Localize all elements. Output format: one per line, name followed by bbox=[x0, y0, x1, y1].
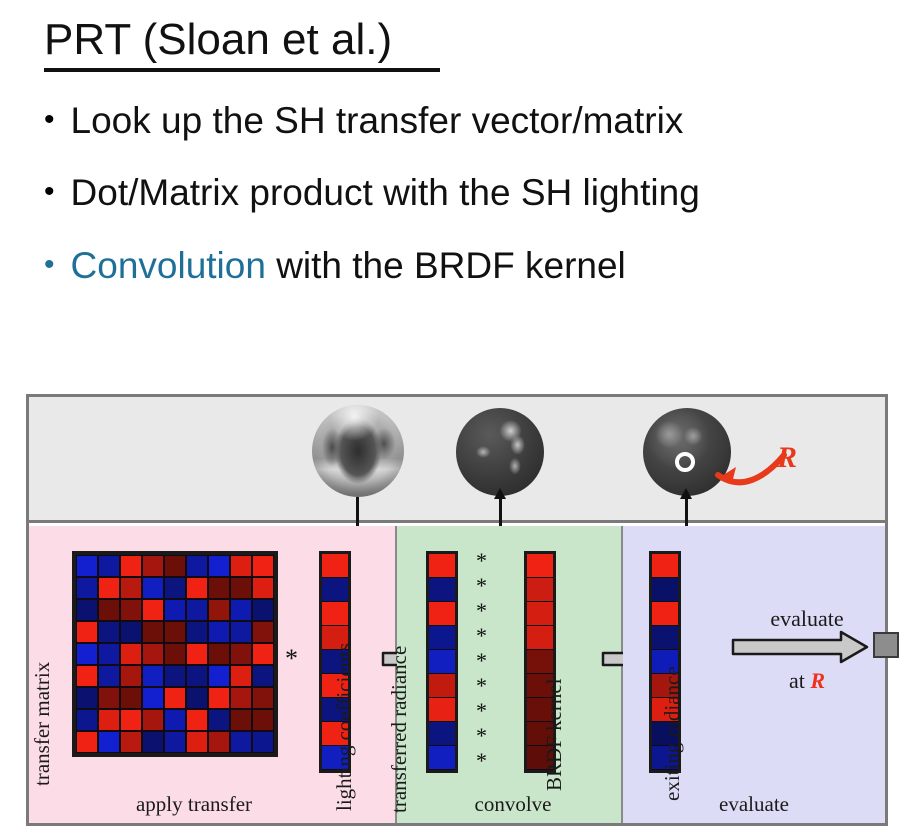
matrix-cell bbox=[98, 731, 120, 753]
matrix-cell bbox=[252, 643, 274, 665]
matrix-cell bbox=[164, 555, 186, 577]
evaluate-at-text: at bbox=[789, 668, 810, 693]
vector-cell bbox=[527, 578, 553, 602]
matrix-cell bbox=[164, 687, 186, 709]
vector-cell bbox=[527, 626, 553, 650]
matrix-cell bbox=[230, 665, 252, 687]
matrix-cell bbox=[98, 621, 120, 643]
caption-evaluate: evaluate bbox=[623, 792, 885, 817]
bullet-marker-icon: • bbox=[44, 177, 55, 207]
matrix-cell bbox=[164, 665, 186, 687]
matrix-cell bbox=[98, 555, 120, 577]
matrix-cell bbox=[164, 731, 186, 753]
evaluate-arrow-bottom-label: at R bbox=[717, 668, 897, 694]
vector-cell bbox=[322, 602, 348, 626]
matrix-cell bbox=[164, 621, 186, 643]
label-exiting-radiance: exiting radiance bbox=[660, 666, 685, 801]
matrix-cell bbox=[230, 599, 252, 621]
matrix-cell bbox=[76, 577, 98, 599]
matrix-cell bbox=[230, 643, 252, 665]
vector-cell bbox=[652, 554, 678, 578]
matrix-cell bbox=[252, 621, 274, 643]
matrix-cell bbox=[230, 709, 252, 731]
matrix-cell bbox=[142, 577, 164, 599]
convolve-star: * bbox=[476, 748, 487, 773]
matrix-cell bbox=[186, 643, 208, 665]
matrix-cell bbox=[76, 621, 98, 643]
label-brdf-kernel: BRDF kernel bbox=[542, 678, 567, 791]
matrix-cell bbox=[98, 577, 120, 599]
matrix-cell bbox=[186, 577, 208, 599]
bullet-text-3: Convolution with the BRDF kernel bbox=[71, 245, 626, 288]
matrix-cell bbox=[142, 731, 164, 753]
matrix-cell bbox=[208, 687, 230, 709]
matrix-cell bbox=[142, 687, 164, 709]
bullet-marker-icon: • bbox=[44, 250, 55, 280]
matrix-cell bbox=[142, 555, 164, 577]
matrix-cell bbox=[208, 621, 230, 643]
bullet-accent-word: Convolution bbox=[71, 245, 266, 286]
matrix-cell bbox=[120, 621, 142, 643]
vector-cell bbox=[652, 626, 678, 650]
matrix-cell bbox=[230, 555, 252, 577]
environment-map-sphere-icon bbox=[312, 405, 404, 497]
panel-apply-transfer: transfer matrix * lighting coefficients … bbox=[29, 526, 397, 823]
vector-cell bbox=[429, 602, 455, 626]
matrix-cell bbox=[142, 709, 164, 731]
matrix-cell bbox=[252, 555, 274, 577]
matrix-cell bbox=[76, 555, 98, 577]
bullet-item-1: • Look up the SH transfer vector/matrix bbox=[44, 100, 683, 143]
convolve-star: * bbox=[476, 548, 487, 573]
matrix-cell bbox=[98, 643, 120, 665]
r-label: R bbox=[777, 441, 797, 475]
caption-convolve: convolve bbox=[423, 792, 603, 817]
label-transferred-radiance: transferred radiance bbox=[387, 646, 412, 813]
result-value-square bbox=[873, 632, 899, 658]
matrix-cell bbox=[164, 599, 186, 621]
matrix-cell bbox=[164, 643, 186, 665]
convolve-star: * bbox=[476, 648, 487, 673]
bullet-text-1: Look up the SH transfer vector/matrix bbox=[71, 100, 684, 143]
matrix-cell bbox=[186, 687, 208, 709]
matrix-cell bbox=[252, 665, 274, 687]
label-lighting-coefficients: lighting coefficients bbox=[332, 643, 357, 811]
matrix-cell bbox=[186, 731, 208, 753]
vector-cell bbox=[429, 698, 455, 722]
matrix-cell bbox=[186, 555, 208, 577]
panel-evaluate: exiting radiance evaluate at R evaluate bbox=[623, 526, 885, 823]
matrix-cell bbox=[230, 577, 252, 599]
evaluate-arrow-top-label: evaluate bbox=[717, 606, 897, 632]
matrix-cell bbox=[120, 643, 142, 665]
bullet-rest-text: with the BRDF kernel bbox=[266, 245, 626, 286]
matrix-cell bbox=[120, 599, 142, 621]
matrix-cell bbox=[208, 599, 230, 621]
bullet-item-3: • Convolution with the BRDF kernel bbox=[44, 245, 626, 288]
pipeline-panels: transfer matrix * lighting coefficients … bbox=[29, 526, 885, 823]
matrix-cell bbox=[208, 577, 230, 599]
matrix-cell bbox=[186, 665, 208, 687]
matrix-cell bbox=[208, 643, 230, 665]
evaluate-arrow-icon bbox=[731, 630, 871, 664]
matrix-cell bbox=[120, 709, 142, 731]
matrix-cell bbox=[230, 621, 252, 643]
matrix-cell bbox=[252, 599, 274, 621]
vector-cell bbox=[527, 650, 553, 674]
matrix-cell bbox=[142, 643, 164, 665]
caption-apply-transfer: apply transfer bbox=[29, 792, 359, 817]
matrix-cell bbox=[208, 731, 230, 753]
matrix-cell bbox=[76, 665, 98, 687]
multiply-operator: * bbox=[285, 644, 298, 674]
vector-cell bbox=[652, 602, 678, 626]
vector-cell bbox=[429, 626, 455, 650]
vector-cell bbox=[527, 554, 553, 578]
evaluate-r-symbol: R bbox=[810, 668, 825, 693]
convolve-star: * bbox=[476, 673, 487, 698]
matrix-cell bbox=[252, 709, 274, 731]
matrix-cell bbox=[76, 643, 98, 665]
matrix-cell bbox=[208, 709, 230, 731]
page-title: PRT (Sloan et al.) bbox=[44, 16, 392, 64]
matrix-cell bbox=[252, 687, 274, 709]
matrix-cell bbox=[186, 709, 208, 731]
vector-cell bbox=[322, 578, 348, 602]
matrix-cell bbox=[120, 555, 142, 577]
matrix-cell bbox=[76, 709, 98, 731]
label-transfer-matrix: transfer matrix bbox=[30, 662, 55, 786]
matrix-cell bbox=[98, 665, 120, 687]
bullet-item-2: • Dot/Matrix product with the SH lightin… bbox=[44, 172, 700, 215]
vector-cell bbox=[429, 674, 455, 698]
panel-convolve: transferred radiance ********* BRDF kern… bbox=[397, 526, 623, 823]
matrix-cell bbox=[142, 621, 164, 643]
bullet-text-2: Dot/Matrix product with the SH lighting bbox=[71, 172, 700, 215]
matrix-cell bbox=[142, 599, 164, 621]
matrix-cell bbox=[120, 665, 142, 687]
matrix-cell bbox=[98, 599, 120, 621]
convolve-star: * bbox=[476, 623, 487, 648]
matrix-cell bbox=[252, 577, 274, 599]
matrix-cell bbox=[98, 709, 120, 731]
matrix-cell bbox=[164, 709, 186, 731]
vector-cell bbox=[429, 554, 455, 578]
convolve-star-column: ********* bbox=[476, 548, 487, 773]
matrix-cell bbox=[76, 731, 98, 753]
vector-cell bbox=[429, 578, 455, 602]
title-underline bbox=[44, 68, 440, 72]
prt-pipeline-diagram: R transfer matrix * lighting coefficient… bbox=[26, 394, 888, 826]
matrix-cell bbox=[208, 555, 230, 577]
vector-cell bbox=[652, 578, 678, 602]
matrix-cell bbox=[164, 577, 186, 599]
vector-cell bbox=[429, 650, 455, 674]
convolve-star: * bbox=[476, 598, 487, 623]
convolve-star: * bbox=[476, 698, 487, 723]
matrix-cell bbox=[230, 687, 252, 709]
transfer-matrix-heatmap bbox=[72, 551, 278, 757]
vector-cell bbox=[322, 554, 348, 578]
matrix-cell bbox=[98, 687, 120, 709]
vector-cell bbox=[527, 602, 553, 626]
matrix-cell bbox=[76, 599, 98, 621]
matrix-cell bbox=[186, 621, 208, 643]
matrix-cell bbox=[120, 731, 142, 753]
matrix-cell bbox=[186, 599, 208, 621]
sphere-band: R bbox=[29, 397, 885, 523]
matrix-cell bbox=[230, 731, 252, 753]
convolve-star: * bbox=[476, 573, 487, 598]
transferred-radiance-sphere-icon bbox=[456, 408, 544, 496]
vector-cell bbox=[429, 722, 455, 746]
matrix-cell bbox=[120, 687, 142, 709]
matrix-cell bbox=[120, 577, 142, 599]
matrix-cell bbox=[208, 665, 230, 687]
convolve-star: * bbox=[476, 723, 487, 748]
bullet-marker-icon: • bbox=[44, 105, 55, 135]
transferred-radiance-vector bbox=[426, 551, 458, 773]
vector-cell bbox=[429, 746, 455, 770]
matrix-cell bbox=[142, 665, 164, 687]
matrix-cell bbox=[76, 687, 98, 709]
matrix-cell bbox=[252, 731, 274, 753]
